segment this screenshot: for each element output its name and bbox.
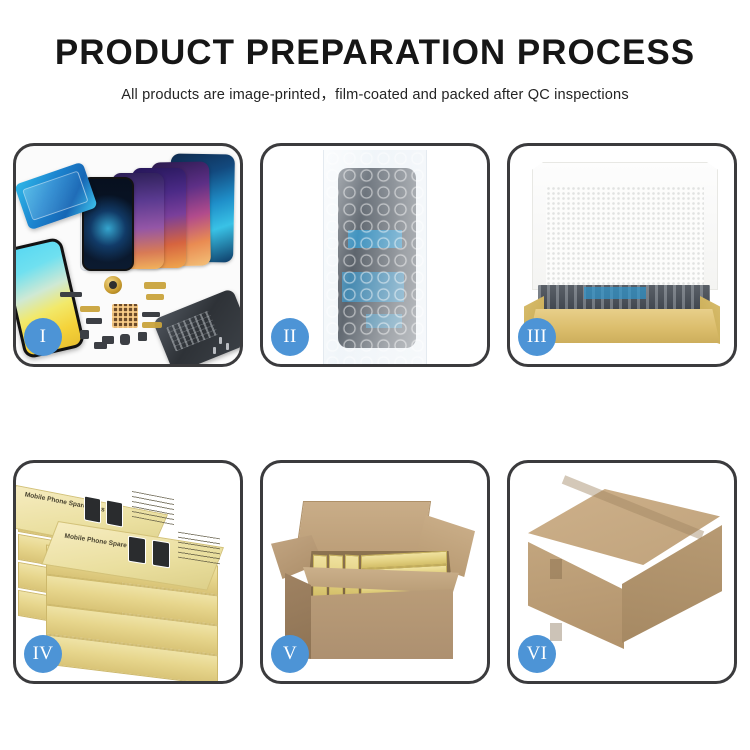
spare-part-icon [60, 292, 82, 297]
carton-front-face [305, 589, 453, 659]
spare-part-icon [138, 332, 147, 341]
phone-housing-icon [152, 288, 240, 364]
flex-cable-icon [144, 282, 166, 289]
step-badge-3: III [518, 318, 556, 356]
header: PRODUCT PREPARATION PROCESS All products… [0, 34, 750, 104]
page-title: PRODUCT PREPARATION PROCESS [0, 34, 750, 72]
box-artwork-thumb [106, 499, 123, 527]
carton-seam [550, 623, 562, 641]
box-artwork-thumb [152, 540, 170, 569]
screw-icon [213, 347, 216, 354]
spare-part-icon [120, 334, 130, 345]
process-step-4: Mobile Phone Spare Parts Mobile Phone Sp… [13, 460, 243, 684]
plastic-sheen [324, 150, 426, 364]
step-badge-4: IV [24, 635, 62, 673]
product-preparation-infographic: PRODUCT PREPARATION PROCESS All products… [0, 0, 750, 750]
step-badge-5: V [271, 635, 309, 673]
speaker-coil-icon [104, 276, 122, 294]
step-badge-2: II [271, 318, 309, 356]
process-step-6: VI [507, 460, 737, 684]
page-subtitle: All products are image-printed，film-coat… [0, 83, 750, 104]
flex-cable-icon [146, 294, 164, 300]
foam-liner [546, 186, 704, 290]
screw-icon [219, 337, 222, 344]
packed-product [538, 285, 710, 311]
box-artwork-thumb [128, 536, 146, 565]
spare-part-icon [86, 318, 102, 324]
box-front-panel [528, 309, 720, 343]
flex-cable-icon [142, 322, 162, 328]
chip-array-icon [112, 304, 138, 328]
screw-icon [226, 343, 229, 350]
flex-cable-icon [80, 306, 100, 312]
process-step-2: II [260, 143, 490, 367]
process-step-5: V [260, 460, 490, 684]
bubble-wrap-sleeve [323, 150, 427, 364]
spare-part-icon [80, 330, 89, 339]
box-artwork-thumb [84, 495, 101, 523]
process-step-grid: I II [13, 143, 737, 684]
step-badge-6: VI [518, 635, 556, 673]
process-step-1: I [13, 143, 243, 367]
process-step-3: III [507, 143, 737, 367]
spare-part-icon [94, 342, 107, 349]
spare-part-icon [142, 312, 160, 317]
step-badge-1: I [24, 318, 62, 356]
carton-seam [550, 559, 562, 579]
